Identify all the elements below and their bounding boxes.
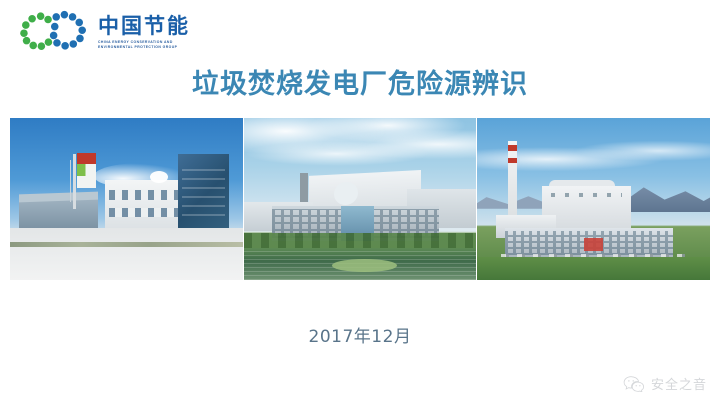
facade-logo-icon	[150, 171, 168, 183]
watermark: 安全之音	[623, 374, 707, 393]
slide-root: 中国节能 CHINA ENERGY CONSERVATION AND ENVIR…	[0, 0, 720, 405]
cecep-dots-logo-icon	[18, 8, 90, 54]
company-name-cn: 中国节能	[98, 15, 190, 37]
plant-stack	[73, 154, 76, 209]
flag-pole	[70, 160, 71, 202]
tree-row	[244, 233, 477, 248]
photo-strip	[10, 118, 710, 280]
flag-company	[77, 164, 96, 176]
slide-date: 2017年12月	[0, 322, 720, 347]
lily-pads	[332, 259, 397, 272]
brand-logo: 中国节能 CHINA ENERGY CONSERVATION AND ENVIR…	[18, 8, 190, 54]
wechat-icon	[623, 375, 645, 392]
red-banner	[584, 238, 603, 251]
flag-white	[77, 176, 96, 188]
plant-shed	[19, 199, 98, 228]
plant-ground	[10, 228, 243, 280]
company-name-en: CHINA ENERGY CONSERVATION AND ENVIRONMEN…	[98, 40, 190, 50]
company-name-en-line2: ENVIRONMENTAL PROTECTION GROUP	[98, 45, 190, 50]
watermark-text: 安全之音	[651, 374, 707, 393]
front-lawn	[477, 257, 710, 280]
photo-plant-chimney-mountains	[477, 118, 710, 280]
photo-plant-pond-reflection	[244, 118, 477, 280]
striped-chimney	[508, 141, 517, 219]
plant-glass-tower	[178, 154, 229, 229]
page-title: 垃圾焚烧发电厂危险源辨识	[0, 62, 720, 101]
brand-logo-text: 中国节能 CHINA ENERGY CONSERVATION AND ENVIR…	[98, 13, 190, 50]
flag-red	[77, 153, 96, 165]
photo-plant-winter-flags	[10, 118, 243, 280]
